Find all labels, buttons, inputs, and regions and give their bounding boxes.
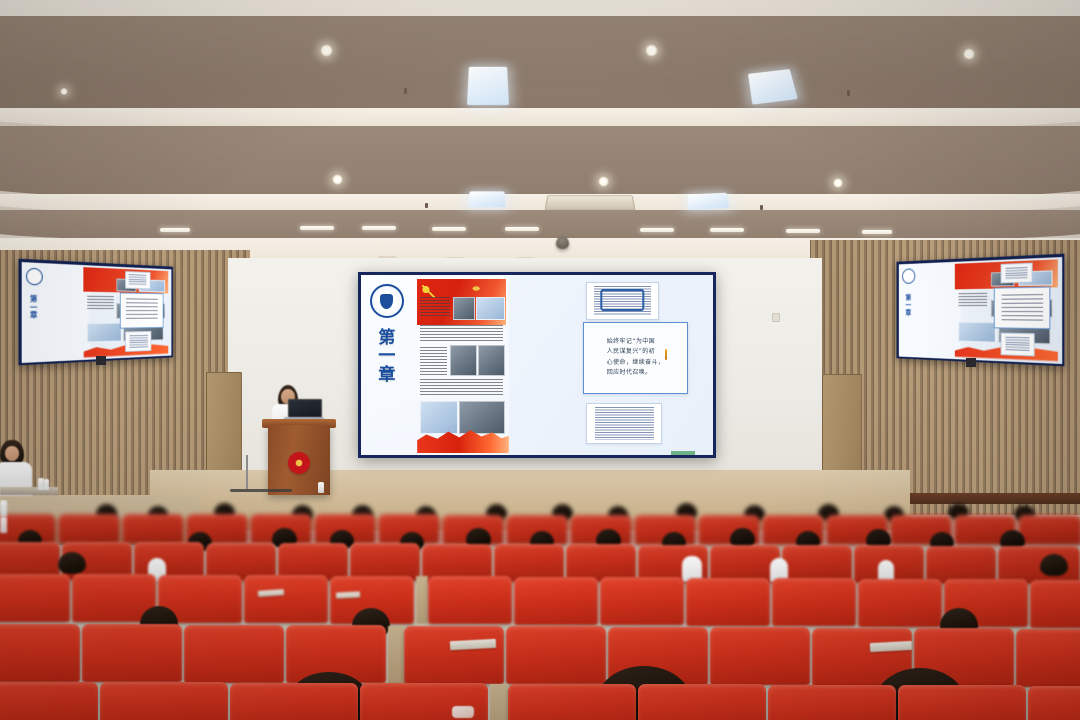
water-bottle bbox=[44, 479, 49, 490]
auditorium-seat[interactable] bbox=[858, 579, 942, 627]
chapter-char-3: 章 bbox=[26, 313, 41, 321]
university-crest-icon bbox=[370, 284, 404, 318]
dome-security-camera bbox=[556, 236, 569, 249]
led-panel-light bbox=[688, 193, 729, 210]
row-aisle-gap bbox=[388, 626, 404, 684]
auditorium-seat[interactable] bbox=[508, 684, 636, 720]
quote-line-2: 人民谋复兴”的初 bbox=[607, 347, 665, 358]
chapter-heading: 第 一 章 bbox=[903, 295, 914, 317]
auditorium-seat[interactable] bbox=[772, 578, 856, 626]
ceiling-strip-light bbox=[710, 228, 744, 232]
recessed-downlight bbox=[833, 178, 843, 188]
chapter-char-1: 第 bbox=[370, 329, 404, 347]
auditorium-seat[interactable] bbox=[428, 576, 512, 624]
university-crest-icon bbox=[26, 268, 43, 286]
auditorium-seat[interactable] bbox=[122, 514, 184, 544]
document-thumbnail-top bbox=[1001, 263, 1033, 284]
ceiling-strip-light bbox=[862, 230, 892, 234]
auditorium-seat[interactable] bbox=[1018, 515, 1080, 545]
slide-body-text-block-2 bbox=[420, 325, 503, 341]
historic-photo bbox=[478, 345, 505, 376]
water-bottle bbox=[318, 482, 324, 493]
side-door-left[interactable] bbox=[206, 372, 242, 486]
water-bottle bbox=[0, 500, 7, 517]
auditorium-seat[interactable] bbox=[0, 624, 80, 682]
manuscript-ink-lines bbox=[129, 335, 148, 349]
manuscript-ink-lines bbox=[1005, 336, 1029, 352]
historic-document-image bbox=[420, 401, 457, 434]
slide-body-text-block bbox=[958, 293, 987, 307]
slide-body-text-block-3 bbox=[420, 347, 447, 376]
main-screen-surface: 第 一 章 bbox=[361, 275, 713, 455]
quote-line-1: 始终牢记“为中国 bbox=[607, 337, 665, 348]
right-wall-monitor[interactable]: 第 一 章 bbox=[896, 254, 1064, 367]
recessed-downlight bbox=[332, 174, 343, 185]
ceiling-strip-light bbox=[362, 226, 396, 230]
historic-photo bbox=[453, 297, 476, 321]
auditorium-seat[interactable] bbox=[244, 575, 328, 623]
institutional-seal-emblem bbox=[288, 452, 310, 474]
chapter-char-1: 第 bbox=[26, 296, 41, 304]
auditorium-seat[interactable] bbox=[1016, 629, 1080, 687]
ceiling-strip-light bbox=[432, 227, 466, 231]
led-panel-light bbox=[467, 67, 509, 105]
mic-stand bbox=[246, 455, 248, 489]
main-projection-screen[interactable]: 第 一 章 bbox=[358, 272, 716, 458]
hammer-sickle-icon bbox=[469, 284, 481, 293]
auditorium-photo: 第 一 章 bbox=[0, 0, 1080, 720]
auditorium-seat[interactable] bbox=[686, 578, 770, 626]
seated-staff-face bbox=[5, 446, 19, 461]
slide-body-text-block-4 bbox=[420, 379, 503, 395]
auditorium-seat[interactable] bbox=[1030, 580, 1080, 628]
chapter-char-3: 章 bbox=[903, 310, 914, 317]
floor-cable bbox=[230, 489, 292, 492]
audience-head bbox=[1040, 554, 1068, 576]
auditorium-seat[interactable] bbox=[230, 683, 358, 720]
document-thumbnail-bottom bbox=[125, 331, 151, 352]
led-panel-light bbox=[748, 69, 798, 105]
left-monitor-surface: 第 一 章 bbox=[21, 262, 171, 363]
monitor-slide-left-column: 第 一 章 bbox=[21, 262, 90, 363]
auditorium-seat[interactable] bbox=[506, 626, 606, 684]
auditorium-seat[interactable] bbox=[82, 624, 182, 682]
auditorium-seat[interactable] bbox=[1028, 686, 1080, 720]
auditorium-seat[interactable] bbox=[898, 685, 1026, 720]
slide-quote-text-lines bbox=[126, 299, 158, 322]
slide-quote-box bbox=[994, 287, 1051, 329]
slide-quote-text-lines bbox=[1001, 294, 1043, 321]
document-thumbnail-top bbox=[125, 271, 150, 289]
row-aisle-gap bbox=[416, 576, 428, 624]
document-ink-lines bbox=[1005, 267, 1028, 280]
chapter-char-3: 章 bbox=[370, 366, 404, 384]
chapter-char-2: 一 bbox=[370, 347, 404, 365]
quote-line-4: 回应时代召唤。 bbox=[607, 368, 665, 379]
recessed-downlight bbox=[963, 48, 975, 60]
historic-document-image bbox=[958, 322, 996, 343]
document-seal-frame bbox=[601, 289, 644, 311]
ceiling-band-middle bbox=[0, 126, 1080, 204]
document-ink-lines bbox=[129, 274, 147, 286]
fire-sprinkler bbox=[425, 203, 428, 208]
row-aisle-gap bbox=[490, 684, 508, 720]
auditorium-seat[interactable] bbox=[184, 625, 284, 683]
ceiling-strip-light bbox=[160, 228, 190, 232]
fire-sprinkler bbox=[760, 205, 763, 210]
historic-document-image bbox=[476, 297, 505, 321]
right-monitor-bracket bbox=[966, 358, 976, 367]
historic-photo bbox=[450, 345, 477, 376]
manuscript-ink-lines bbox=[595, 407, 654, 440]
monitor-slide-left-column: 第 一 章 bbox=[898, 261, 961, 359]
auditorium-seat[interactable] bbox=[768, 685, 896, 720]
quote-line-3: 心使命，继续奋斗， bbox=[607, 358, 665, 369]
ceiling-strip-light bbox=[786, 229, 820, 233]
auditorium-seat[interactable] bbox=[404, 626, 504, 684]
auditorium-seat[interactable] bbox=[514, 577, 598, 625]
auditorium-seat[interactable] bbox=[100, 682, 228, 720]
auditorium-seat[interactable] bbox=[638, 684, 766, 720]
slide-quote-text: 始终牢记“为中国 人民谋复兴”的初 心使命，继续奋斗， 回应时代召唤。 bbox=[607, 337, 665, 379]
university-crest-icon bbox=[902, 269, 915, 284]
slide-left-column: 第 一 章 bbox=[361, 275, 509, 455]
fire-sprinkler bbox=[847, 90, 850, 96]
chapter-heading: 第 一 章 bbox=[370, 329, 404, 384]
left-wall-monitor[interactable]: 第 一 章 bbox=[18, 259, 172, 366]
right-monitor-surface: 第 一 章 bbox=[898, 257, 1061, 364]
auditorium-seat[interactable] bbox=[600, 577, 684, 625]
fire-sprinkler bbox=[404, 88, 407, 94]
recessed-downlight bbox=[60, 88, 68, 95]
document-thumbnail-bottom bbox=[586, 403, 662, 445]
wall-outlet bbox=[772, 313, 780, 322]
recessed-downlight bbox=[598, 176, 609, 187]
chapter-char-1: 第 bbox=[903, 295, 914, 302]
auditorium-seat[interactable] bbox=[0, 574, 70, 622]
auditorium-seat[interactable] bbox=[0, 682, 98, 720]
ceiling-strip-light bbox=[300, 226, 334, 230]
document-thumbnail-top bbox=[586, 282, 658, 320]
slide-body-text-block-1 bbox=[420, 297, 450, 319]
ceiling-air-vent bbox=[545, 195, 636, 210]
recessed-downlight bbox=[320, 44, 333, 57]
ceiling-strip-light bbox=[505, 227, 539, 231]
chapter-char-2: 一 bbox=[903, 302, 914, 309]
historic-photo bbox=[459, 401, 505, 434]
recessed-downlight bbox=[645, 44, 658, 57]
side-table bbox=[0, 487, 58, 495]
document-thumbnail-bottom bbox=[1001, 332, 1035, 356]
slide-quote-box: 始终牢记“为中国 人民谋复兴”的初 心使命，继续奋斗， 回应时代召唤。 bbox=[583, 322, 689, 394]
auditorium-seat[interactable] bbox=[58, 514, 120, 544]
water-bottle bbox=[0, 517, 7, 533]
auditorium-seat[interactable] bbox=[710, 627, 810, 685]
litter-on-floor bbox=[452, 706, 474, 718]
ceiling-strip-light bbox=[640, 228, 674, 232]
chapter-heading: 第 一 章 bbox=[26, 296, 41, 321]
audience-seating-area bbox=[0, 500, 1080, 720]
folding-desk-tablet[interactable] bbox=[336, 591, 360, 598]
slide-body-text-block bbox=[87, 296, 114, 309]
left-monitor-bracket bbox=[96, 356, 106, 365]
historic-document-image bbox=[87, 323, 121, 342]
screen-bottom-green-strip bbox=[671, 451, 696, 455]
audience-head bbox=[58, 552, 86, 574]
led-panel-light bbox=[468, 191, 505, 207]
slide-quote-box bbox=[120, 292, 164, 329]
